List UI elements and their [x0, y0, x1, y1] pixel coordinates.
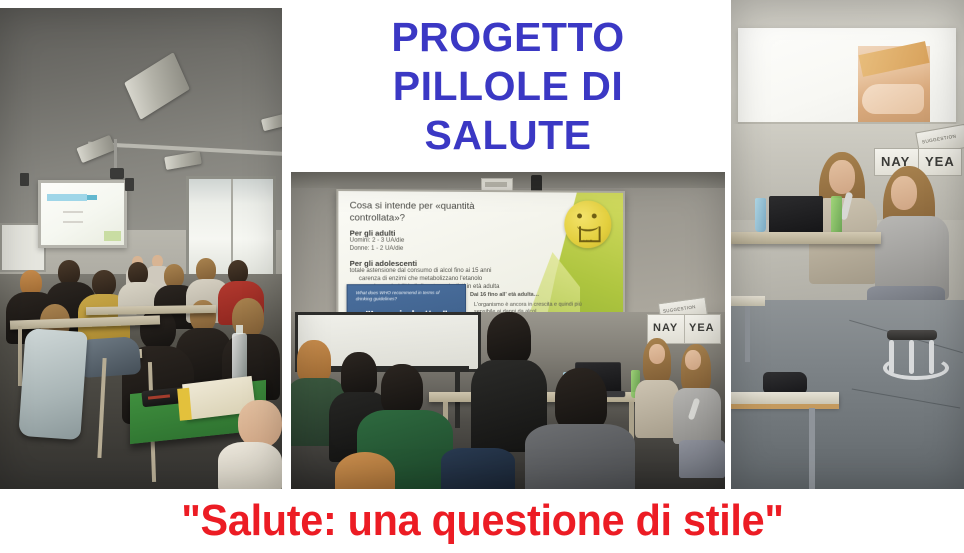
laptop [769, 196, 823, 234]
logo-text: LILT [564, 238, 611, 243]
slide-teens-bullet: carenza di enzimi che metabolizzano l'et… [359, 276, 532, 284]
slide-adults-heading: Per gli adulti [350, 229, 396, 238]
coat-on-chair [18, 328, 87, 440]
audience-head [487, 312, 531, 364]
slide-right-heading: Dai 16 fino all' età adulta… [470, 292, 591, 299]
projector-arm [114, 139, 117, 169]
backpack [79, 336, 142, 378]
screen-banner-accent [87, 195, 97, 200]
slide-title: Cosa si intende per «quantità controllat… [350, 200, 516, 225]
speaker-icon [20, 173, 29, 186]
stool-seat [887, 330, 937, 340]
student-head [92, 270, 116, 297]
suggestion-label: SUGGESTION [663, 304, 696, 314]
desk-leg [745, 306, 750, 362]
presenter-legs [679, 440, 725, 478]
student-head [238, 400, 282, 448]
desk-leg [809, 408, 815, 489]
projected-image [858, 46, 930, 122]
yea-label: YEA [925, 154, 955, 169]
screen-banner [47, 194, 87, 201]
speakers-photo: SUGGESTION NAY YEA [731, 0, 964, 489]
audience-head [381, 364, 423, 414]
stool-ring [883, 356, 949, 380]
presenter-face [685, 350, 701, 370]
title-line-1: PROGETTO [391, 13, 624, 62]
poster-collage: LILT Cosa si intende per «quantità contr… [0, 0, 964, 553]
logo-eye [577, 213, 582, 218]
suggestion-label: SUGGESTION [922, 134, 957, 145]
slide-adults-men: Uomini: 2 - 3 UA/die [350, 238, 405, 246]
audience-head [297, 340, 331, 382]
audience-head [341, 352, 377, 396]
nay-label: NAY [653, 322, 678, 334]
poster-title: PROGETTO PILLOLE DI SALUTE [290, 4, 726, 166]
logo-eye [592, 214, 597, 219]
side-desk [731, 296, 765, 306]
pencil-case [763, 372, 807, 394]
yea-label: YEA [689, 322, 715, 334]
student-head [140, 308, 176, 350]
water-bottle [755, 198, 766, 232]
slide-teens-heading: Per gli adolescenti [350, 259, 417, 268]
screen-text-line [63, 211, 83, 213]
projector-icon [110, 168, 124, 179]
slide-teens-line: totale astensione dal consumo di alcol f… [350, 268, 536, 276]
audience-head [335, 452, 395, 489]
speaker-face [891, 176, 917, 210]
presentation-slide-photo: LILT Cosa si intende per «quantità contr… [291, 172, 725, 489]
audience-body [525, 424, 635, 489]
speaker-icon [125, 178, 134, 191]
presenter-body [673, 388, 721, 444]
slide-adults-women: Donne: 1 - 2 UA/die [350, 246, 404, 254]
audience-head [555, 368, 607, 430]
screen-text-line [63, 221, 83, 223]
presenters-table [731, 232, 881, 244]
who-question: What does WHO recommend in terms of drin… [356, 290, 457, 302]
student-body [218, 442, 282, 489]
lilt-smiley-logo-icon: LILT [564, 200, 611, 248]
presenter-face [649, 344, 665, 364]
projection-screen [38, 180, 127, 248]
title-line-2: PILLOLE DI [393, 62, 624, 111]
poster-caption: "Salute: una questione di stile" [0, 489, 964, 553]
front-desk-edge [731, 404, 839, 409]
stool [879, 330, 945, 374]
classroom-wide-photo [0, 8, 282, 489]
audience-body [441, 448, 515, 489]
screen-logo [104, 231, 121, 241]
projection-screen [738, 28, 956, 124]
title-line-3: SALUTE [425, 111, 592, 160]
caption-text: "Salute: una questione di stile" [181, 497, 783, 545]
speaker-face [829, 160, 855, 194]
